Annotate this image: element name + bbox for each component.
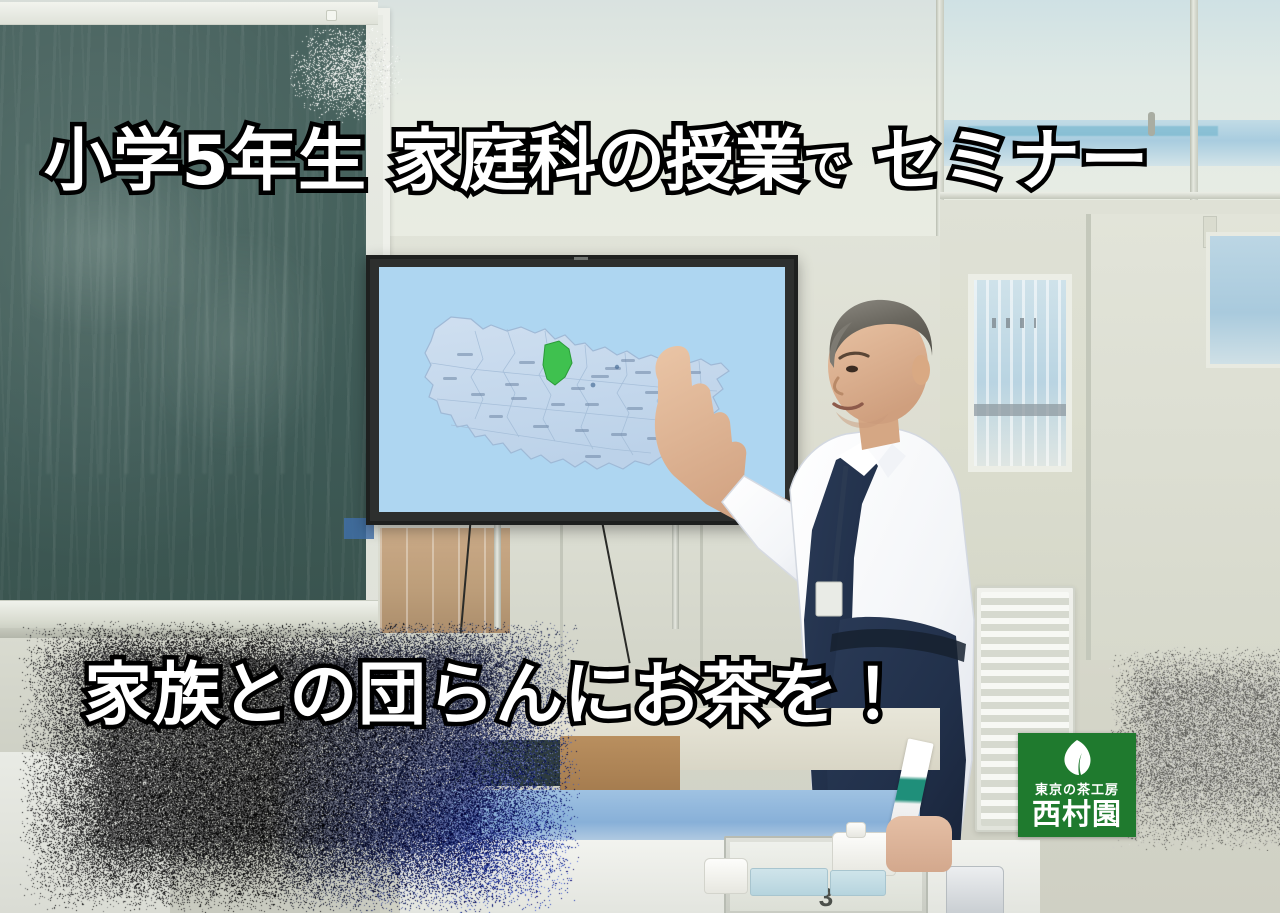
monitor-power-led-icon [574, 257, 588, 260]
small-cup [704, 858, 748, 894]
logo-sub-text: 東京の茶工房 [1035, 779, 1119, 798]
headline-particle: で [803, 138, 850, 192]
screenshot-canvas: 3 小学5年生 家庭科の授業で セミナー 家族との団らんにお茶を！ 東京の茶工房… [0, 0, 1280, 913]
blackboard-clip-icon [326, 10, 337, 21]
wooden-drawer [560, 736, 680, 792]
tea-leaf-icon [1058, 738, 1096, 778]
door-window-right [1206, 232, 1280, 368]
tea-pouch-1 [750, 868, 828, 896]
cup-lid-knob [846, 822, 866, 838]
nishimuraen-logo[interactable]: 東京の茶工房 西村園 [1018, 733, 1136, 837]
kettle [946, 866, 1004, 913]
headline-part1: 小学5年生 家庭科の授業 [44, 122, 803, 201]
window-latch-icon [1148, 112, 1155, 136]
subline-text: 家族との団らんにお茶を！ [84, 662, 907, 730]
presenter-lower-hand [886, 816, 952, 872]
chalk-tray [0, 628, 378, 638]
presenter-ear [912, 355, 930, 385]
logo-main-text: 西村園 [1032, 799, 1122, 829]
headline-part2: セミナー [874, 122, 1149, 201]
wall-seam-1 [560, 517, 563, 667]
blackboard [0, 24, 366, 602]
tea-pouch-2 [830, 870, 886, 896]
cabinet-panel-lines [380, 528, 510, 633]
blackboard-top-rail [0, 2, 378, 25]
blackboard-bottom-rail [0, 600, 378, 631]
wooden-cabinet [380, 528, 510, 633]
left-counter [0, 752, 170, 913]
headline-text: 小学5年生 家庭科の授業で セミナー [44, 128, 1149, 196]
presenter-eye [846, 366, 858, 373]
monitor-stand-pole-left [494, 517, 501, 629]
window-mullion-right [1190, 0, 1198, 200]
presenter-id-badge [816, 582, 842, 616]
